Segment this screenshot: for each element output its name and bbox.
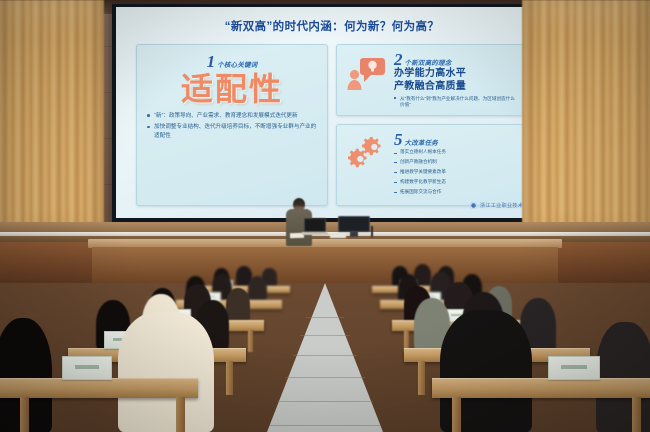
desk-leg [20, 397, 29, 432]
step [277, 401, 373, 403]
audience-person [596, 322, 650, 432]
list-item: 推进教学关键要素改革 [394, 169, 516, 176]
projection-screen: “新双高”的时代内涵：何为新？何为高？ 1 个核心关键词 适配性 “新”：政策导… [112, 4, 552, 222]
list-item: 创新产教融合机制 [394, 159, 516, 166]
card-two-number-line: 2 个新双高的理念 [394, 51, 516, 68]
monitor-stand [350, 232, 358, 237]
card-two-number: 2 [394, 51, 403, 68]
audience-person [248, 276, 267, 301]
desk-leg [176, 397, 185, 432]
lecture-hall-photo: “新双高”的时代内涵：何为新？何为高？ 1 个核心关键词 适配性 “新”：政策导… [0, 0, 650, 432]
list-item: 从“我有什么”到“我为产业解决什么问题、为区域创造什么价值” [394, 96, 516, 110]
audience-person [226, 288, 250, 322]
slide-card-two: 2 个新双高的理念 办学能力高水平 产教融合高质量 从“我有什么”到“我为产业解… [336, 44, 524, 116]
card-three-number: 5 [394, 131, 403, 148]
list-item: “新”：政策导向、产业需求、教育理念和发展模式迭代更新 [146, 112, 318, 121]
card-one-number: 1 [207, 53, 216, 70]
step [306, 317, 344, 319]
desk-leg [226, 361, 233, 395]
step [269, 425, 381, 427]
card-three-number-line: 5 大改革任务 [394, 131, 516, 148]
desk-placard [548, 356, 600, 380]
school-emblem-icon [470, 202, 477, 209]
desk-leg [632, 397, 641, 432]
slide-card-one: 1 个核心关键词 适配性 “新”：政策导向、产业需求、教育理念和发展模式迭代更新… [136, 44, 328, 206]
screen-surface: “新双高”的时代内涵：何为新？何为高？ 1 个核心关键词 适配性 “新”：政策导… [116, 7, 548, 218]
list-item: 加快调整专业结构、迭代升级培养目标，不断增强专业群与产业的适配性 [146, 123, 318, 140]
card-two-heading-line2: 产教融合高质量 [394, 81, 516, 94]
card-two-bullets: 从“我有什么”到“我为产业解决什么问题、为区域创造什么价值” [394, 96, 516, 110]
slide-body: 1 个核心关键词 适配性 “新”：政策导向、产业需求、教育理念和发展模式迭代更新… [126, 44, 538, 206]
card-two-number-suffix: 个新双高的理念 [405, 57, 452, 68]
card-three-number-suffix: 大改革任务 [405, 137, 439, 148]
audience-person [118, 312, 214, 432]
presenter-laptop [302, 218, 328, 235]
list-item: 落实立德树人根本任务 [394, 149, 516, 156]
desk-leg [248, 330, 253, 352]
card-one-bullets: “新”：政策导向、产业需求、教育理念和发展模式迭代更新 加快调整专业结构、迭代升… [146, 112, 318, 141]
monitor-panel [338, 216, 370, 232]
slide-right-column: 2 个新双高的理念 办学能力高水平 产教融合高质量 从“我有什么”到“我为产业解… [336, 44, 524, 206]
card-one-number-suffix: 个核心关键词 [217, 59, 257, 70]
presentation-slide: “新双高”的时代内涵：何为新？何为高？ 1 个核心关键词 适配性 “新”：政策导… [116, 7, 548, 218]
desk-placard [62, 356, 112, 380]
card-two-text: 2 个新双高的理念 办学能力高水平 产教融合高质量 从“我有什么”到“我为产业解… [394, 51, 516, 109]
list-item: 构建数字化教学新生态 [394, 179, 516, 186]
slide-card-three: 5 大改革任务 落实立德树人根本任务 创新产教融合机制 推进教学关键要素改革 构… [336, 124, 524, 205]
laptop-screen [304, 218, 326, 232]
laptop-base [302, 232, 328, 235]
presenter-desk-face [92, 247, 558, 283]
person-speech-bubble-idea-icon [343, 51, 389, 91]
microphone [371, 226, 373, 237]
desk-leg [418, 361, 425, 395]
audience-desk-row [432, 378, 650, 398]
gears-icon [343, 131, 389, 171]
audience-desk-row [0, 378, 198, 398]
card-three-bullets: 落实立德树人根本任务 创新产教融合机制 推进教学关键要素改革 构建数字化教学新生… [394, 149, 516, 195]
card-three-text: 5 大改革任务 落实立德树人根本任务 创新产教融合机制 推进教学关键要素改革 构… [394, 131, 516, 198]
card-one-number-line: 1 个核心关键词 [146, 53, 318, 70]
card-one-hero-text: 适配性 [146, 73, 318, 107]
step [300, 335, 350, 337]
step [293, 355, 357, 357]
card-two-heading-line1: 办学能力高水平 [394, 68, 516, 81]
external-monitor [338, 216, 370, 237]
desk-leg [452, 397, 461, 432]
list-item: 拓展国际交流与合作 [394, 189, 516, 196]
step [285, 377, 365, 379]
slide-title: “新双高”的时代内涵：何为新？何为高？ [126, 18, 538, 34]
